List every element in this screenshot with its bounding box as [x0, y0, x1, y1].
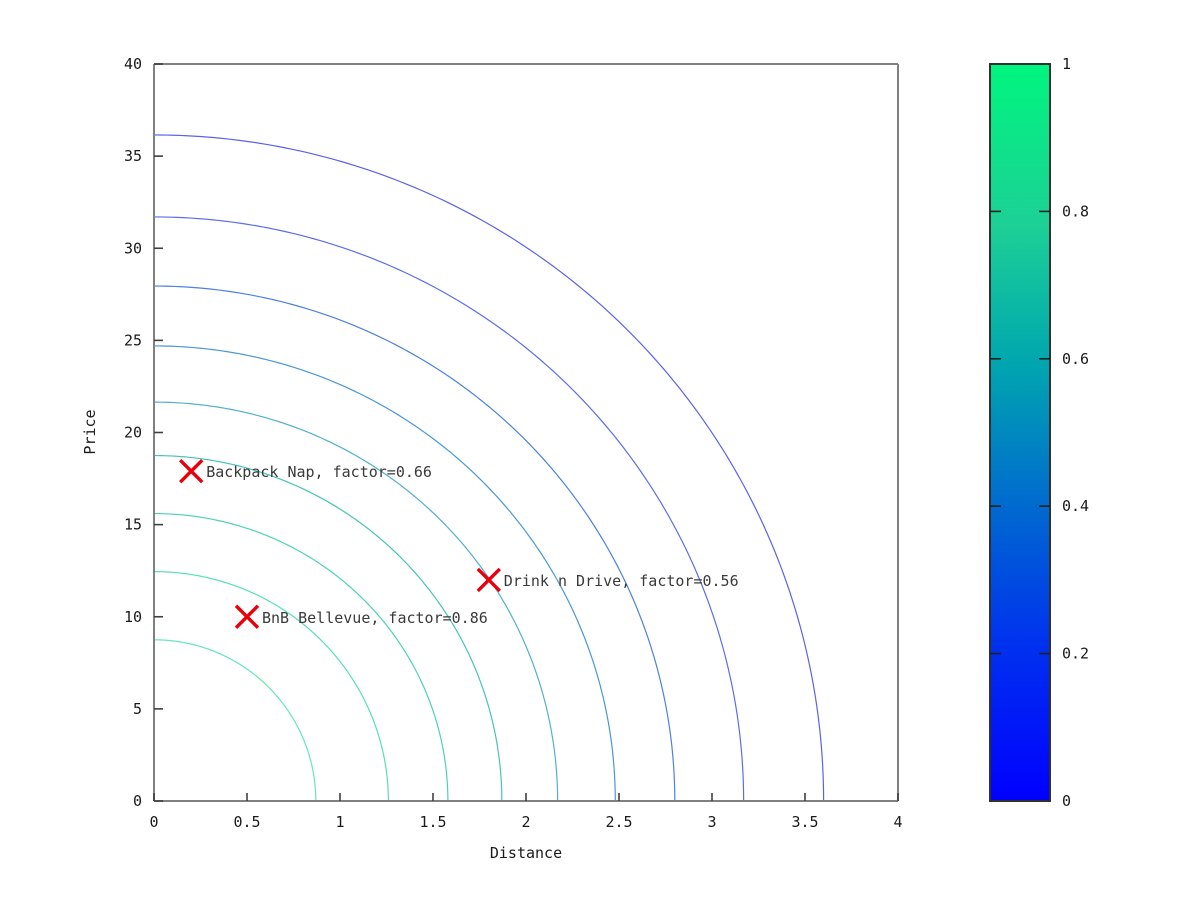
- y-tick-label: 30: [124, 239, 142, 257]
- colorbar-tick-label: 0.2: [1062, 645, 1089, 663]
- colorbar-tick-label: 0.4: [1062, 497, 1089, 515]
- y-tick-label: 35: [124, 147, 142, 165]
- site-marker[interactable]: BnB Bellevue, factor=0.86: [236, 606, 488, 628]
- x-tick-label: 3.5: [791, 813, 818, 831]
- x-tick-label: 2.5: [605, 813, 632, 831]
- x-axis-title: Distance: [490, 844, 562, 862]
- colorbar-tick-label: 0: [1062, 792, 1071, 810]
- site-marker-label: BnB Bellevue, factor=0.86: [262, 609, 488, 627]
- x-tick-label: 1: [335, 813, 344, 831]
- y-tick-label: 40: [124, 55, 142, 73]
- chart-canvas: 00.511.522.533.54 0510152025303540 Dista…: [0, 0, 1200, 900]
- site-marker[interactable]: Backpack Nap, factor=0.66: [180, 460, 432, 482]
- y-tick-label: 5: [133, 700, 142, 718]
- y-axis-title: Price: [81, 409, 99, 454]
- x-tick-label: 3: [707, 813, 716, 831]
- x-tick-label: 4: [893, 813, 902, 831]
- site-marker[interactable]: Drink n Drive, factor=0.56: [478, 569, 739, 591]
- x-tick-label: 0.5: [233, 813, 260, 831]
- site-marker-label: Backpack Nap, factor=0.66: [206, 463, 432, 481]
- y-tick-label: 0: [133, 792, 142, 810]
- y-tick-label: 25: [124, 331, 142, 349]
- x-tick-label: 2: [521, 813, 530, 831]
- colorbar-tick-label: 0.6: [1062, 350, 1089, 368]
- x-tick-label: 0: [149, 813, 158, 831]
- colorbar-gradient: [990, 64, 1050, 801]
- y-tick-label: 15: [124, 516, 142, 534]
- site-marker-label: Drink n Drive, factor=0.56: [504, 572, 739, 590]
- colorbar-tick-label: 0.8: [1062, 202, 1089, 220]
- colorbar-tick-label: 1: [1062, 55, 1071, 73]
- y-tick-label: 10: [124, 608, 142, 626]
- x-tick-label: 1.5: [419, 813, 446, 831]
- y-tick-label: 20: [124, 424, 142, 442]
- contour-plot-figure: 00.511.522.533.54 0510152025303540 Dista…: [0, 0, 1200, 900]
